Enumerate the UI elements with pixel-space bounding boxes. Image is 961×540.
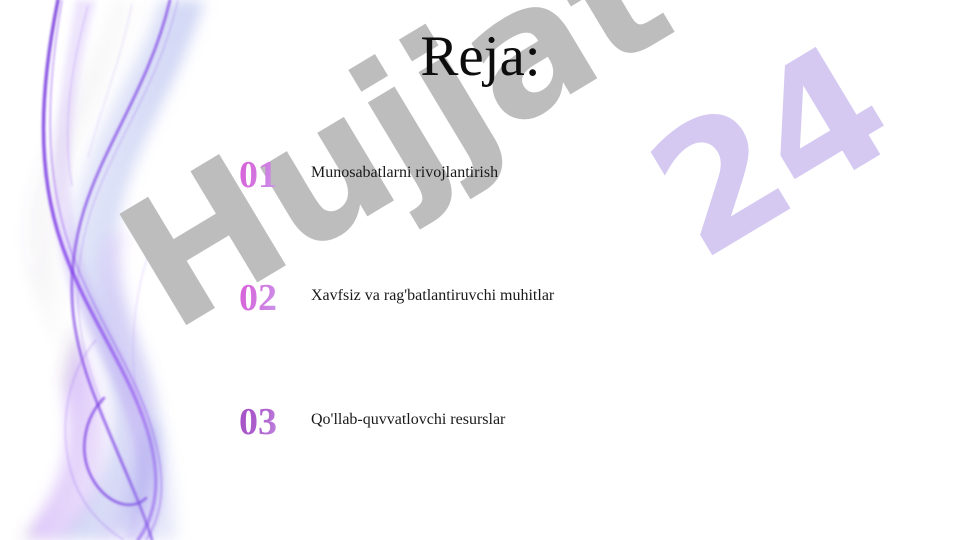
agenda-item-3: 03 Qo'llab-quvvatlovchi resurslar [239, 403, 505, 441]
agenda-number-1: 01 [239, 156, 311, 194]
presentation-slide: Hujjat 24 Reja: 01 Munosabatlarni rivojl… [0, 0, 961, 540]
slide-content: Reja: 01 Munosabatlarni rivojlantirish 0… [0, 0, 961, 540]
agenda-label-3: Qo'llab-quvvatlovchi resurslar [311, 412, 505, 428]
agenda-label-1: Munosabatlarni rivojlantirish [311, 165, 498, 181]
agenda-number-3: 03 [239, 403, 311, 441]
agenda-number-2: 02 [239, 279, 311, 317]
agenda-item-1: 01 Munosabatlarni rivojlantirish [239, 156, 498, 194]
agenda-item-2: 02 Xavfsiz va rag'batlantiruvchi muhitla… [239, 279, 554, 317]
agenda-label-2: Xavfsiz va rag'batlantiruvchi muhitlar [311, 288, 554, 304]
page-title: Reja: [0, 26, 961, 89]
